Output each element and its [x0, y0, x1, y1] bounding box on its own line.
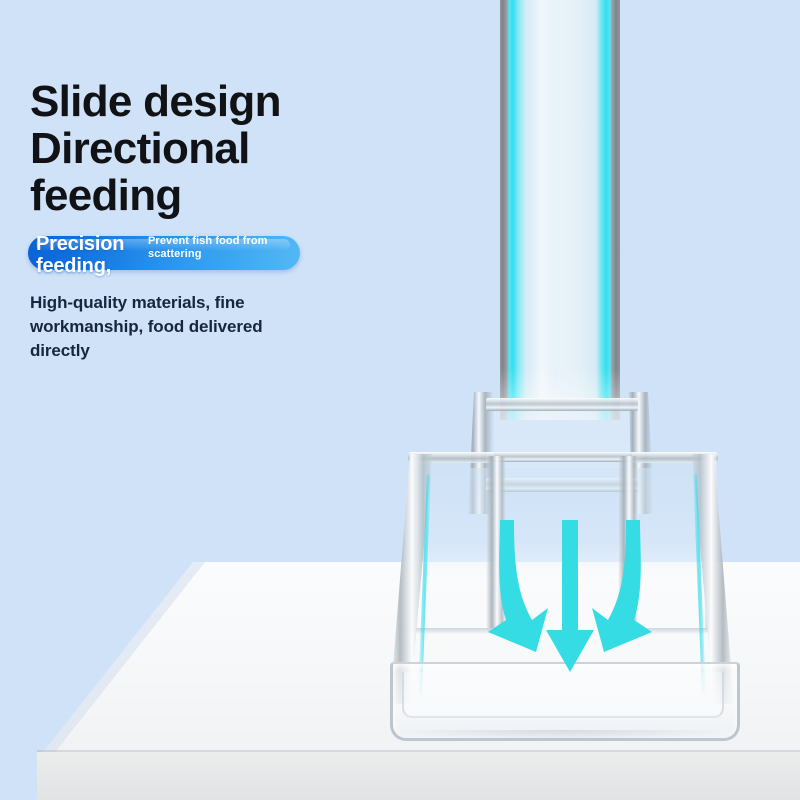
headline-line-2: Directional	[30, 125, 450, 172]
feeder-tube-body	[500, 0, 620, 420]
flow-arrow-center-icon	[546, 520, 594, 672]
headline-line-3: feeding	[30, 172, 450, 219]
headline-line-1: Slide design	[30, 78, 450, 125]
table-surface-front	[0, 752, 800, 800]
table-edge-line	[37, 750, 800, 752]
flow-arrow-left-icon	[488, 520, 548, 652]
flow-arrow-right-icon	[592, 520, 652, 652]
bracket-window-upper	[494, 411, 630, 452]
feeder-tube-sheen	[530, 0, 556, 420]
food-flow-arrows	[470, 520, 670, 680]
badge-sublabel: Prevent fish food from scattering	[148, 235, 298, 262]
body-copy: High-quality materials, fine workmanship…	[30, 291, 290, 363]
headline: Slide design Directional feeding	[30, 78, 450, 219]
bracket-crossbar-top	[486, 398, 638, 411]
feeder-tube	[500, 0, 620, 420]
base-contact-shadow	[398, 730, 726, 740]
product-marketing-poster: Slide design Directional feeding Precisi…	[0, 0, 800, 800]
